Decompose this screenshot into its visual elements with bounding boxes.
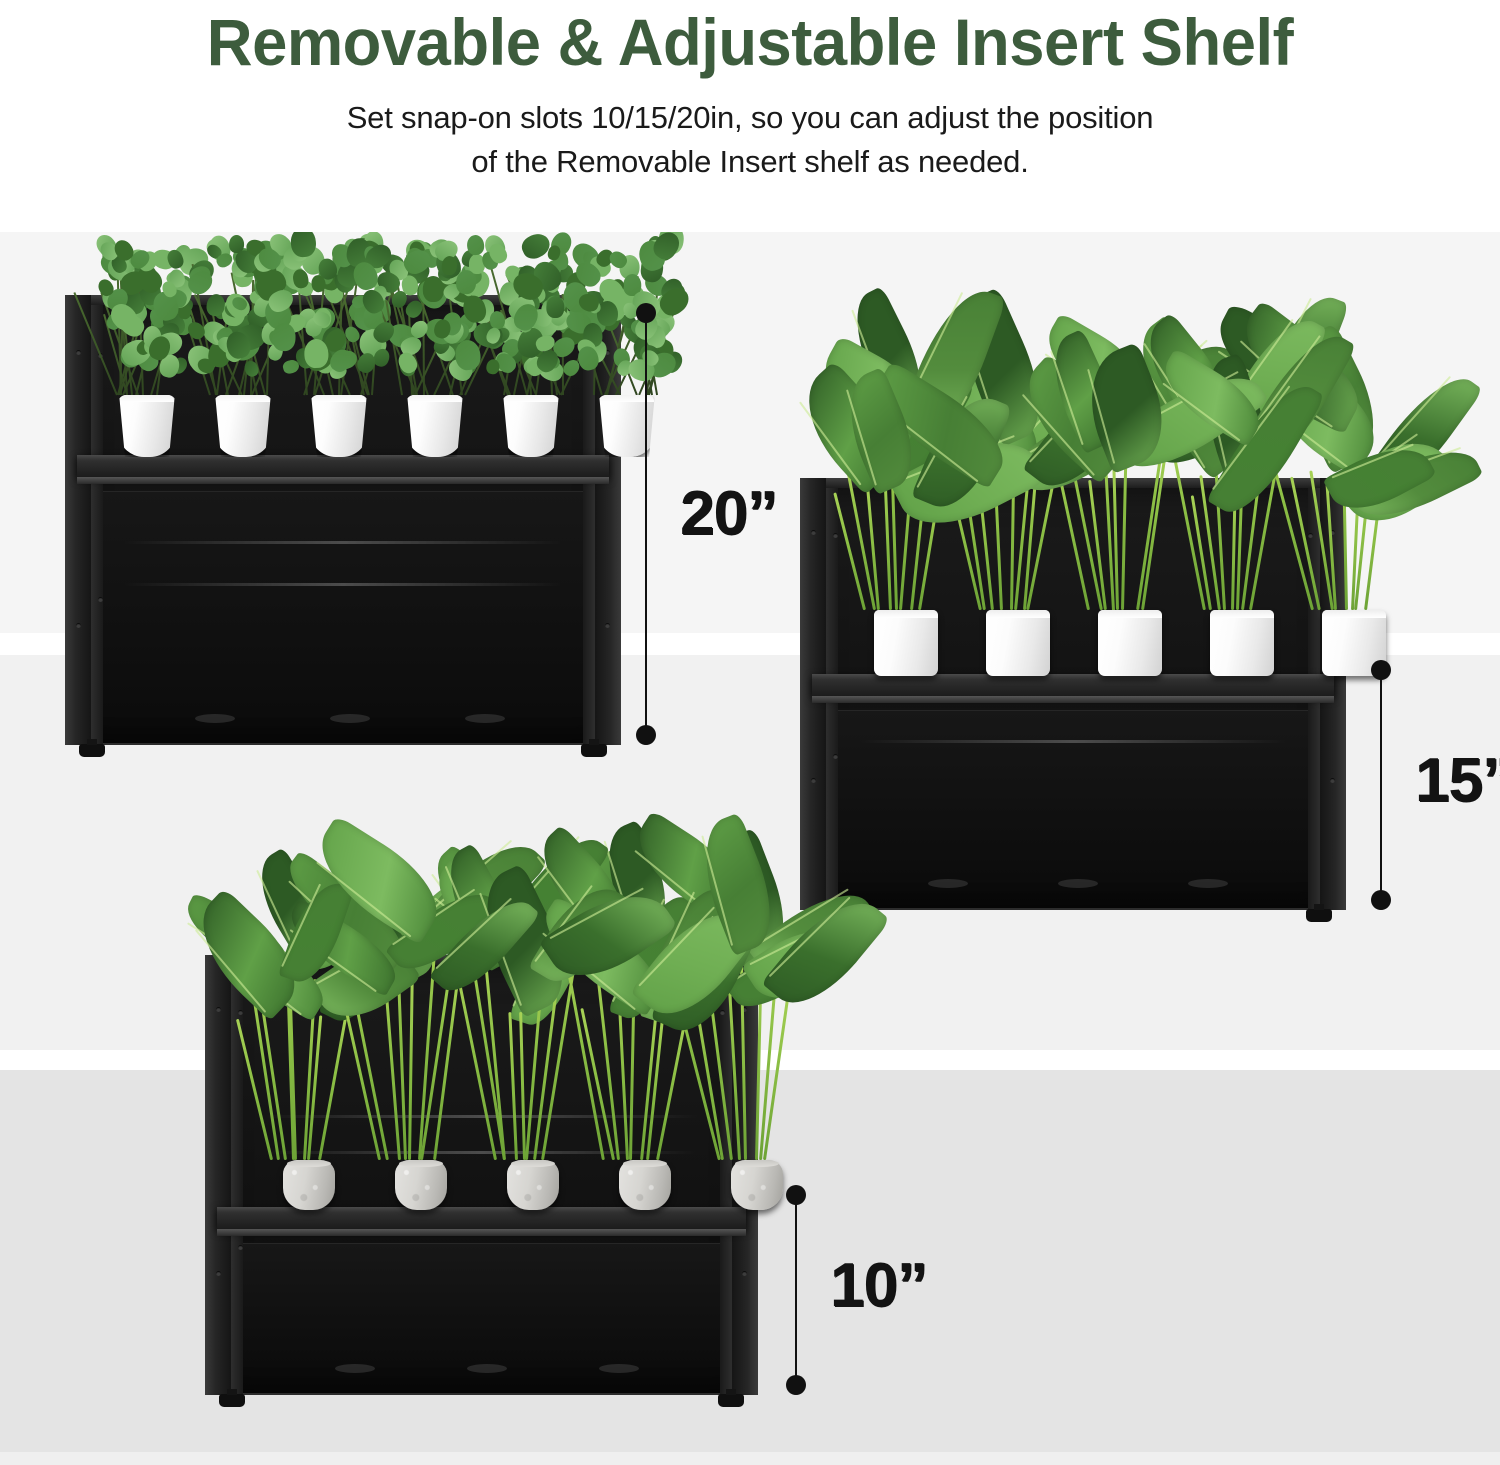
bush-plant [483,245,579,395]
bush-plant [99,245,195,395]
snap-slot [76,350,81,355]
insert-shelf-lip [812,696,1334,703]
plant-stem [408,980,414,1160]
cavity-back-panel [838,710,1308,882]
panel-seam [125,541,561,544]
insert-shelf-lip [77,477,609,484]
snap-slot [742,1271,747,1276]
dimension-label-10in: 10” [830,1255,927,1317]
plant-leaf [485,358,500,375]
plant-pot [731,1160,783,1210]
cavity-back-panel [243,1243,720,1367]
plant-pot [406,395,464,457]
bush-plant [579,245,675,395]
snap-slot [811,530,816,535]
header: Removable & Adjustable Insert Shelf Set … [0,0,1500,232]
banana-leaf-plant [1074,380,1186,610]
leveling-foot [1306,909,1332,922]
subtitle-line-2: of the Removable Insert shelf as needed. [0,140,1500,184]
plant-pot [507,1160,559,1210]
plant-leaf [303,339,328,369]
removable-insert-shelf[interactable] [77,455,609,477]
plant-stem [519,1012,526,1160]
snap-slot [1330,778,1335,783]
potted-plant [291,245,387,457]
insert-shelf-lip [217,1229,746,1236]
plant-pot [214,395,272,457]
background-band-footer [0,1452,1500,1465]
leveling-foot [581,744,607,757]
plant-pot [118,395,176,457]
plant-row-20in [85,225,601,457]
snap-slot [216,1271,221,1276]
plant-leaf [441,255,458,275]
plant-pot [1098,610,1162,676]
dimension-label-20in: 20” [680,483,777,545]
plant-stem [508,1012,518,1160]
panel-seam [125,583,561,586]
cavity-back-panel [103,491,583,717]
plant-pot [874,610,938,676]
snap-slot [76,623,81,628]
dimension-line [795,1194,797,1386]
shelf-unit-15in[interactable] [800,478,1346,910]
leveling-foot [79,744,105,757]
potted-plant [365,880,477,1210]
potted-plant [387,245,483,457]
plant-leaf [272,323,296,351]
floor-bump [1058,879,1098,888]
banana-leaf-plant [365,880,477,1160]
snap-slot [216,1007,221,1012]
potted-plant [99,245,195,457]
leveling-foot [219,1394,245,1407]
potted-plant [483,245,579,457]
plant-stem [866,489,880,610]
page-title: Removable & Adjustable Insert Shelf [30,0,1470,78]
removable-insert-shelf[interactable] [217,1207,746,1229]
plant-pot [598,395,656,457]
panel-seam [860,740,1286,743]
plant-row-15in [824,368,1322,676]
shelf-unit-20in[interactable] [65,295,621,745]
shelf-unit-10in[interactable] [205,955,758,1395]
floor-bump [599,1364,639,1373]
snap-slot [811,778,816,783]
floor-bump [928,879,968,888]
subtitle-line-1: Set snap-on slots 10/15/20in, so you can… [0,96,1500,140]
floor-bump [195,714,235,723]
leveling-foot [718,1394,744,1407]
plant-leaf [546,296,564,318]
dimension-line [1380,669,1382,901]
bush-plant [387,245,483,395]
dimension-label-15in: 15” [1415,750,1500,812]
floor-bump [330,714,370,723]
potted-plant [1074,380,1186,676]
plant-pot [1210,610,1274,676]
potted-plant [579,245,675,457]
frame-post-left [205,955,231,1395]
page-subtitle: Set snap-on slots 10/15/20in, so you can… [0,96,1500,184]
plant-pot [283,1160,335,1210]
plant-stem [318,1007,349,1160]
plant-pot [310,395,368,457]
floor-bump [335,1364,375,1373]
removable-insert-shelf[interactable] [812,674,1334,696]
floor-bump [467,1364,507,1373]
snap-slot [605,623,610,628]
plant-row-10in [229,860,734,1210]
plant-pot [395,1160,447,1210]
plant-pot [502,395,560,457]
floor-bump [1188,879,1228,888]
plant-pot [986,610,1050,676]
plant-leaf [466,234,484,256]
potted-plant [1298,380,1410,676]
dimension-line [645,312,647,736]
floor-bump [465,714,505,723]
plant-pot [619,1160,671,1210]
